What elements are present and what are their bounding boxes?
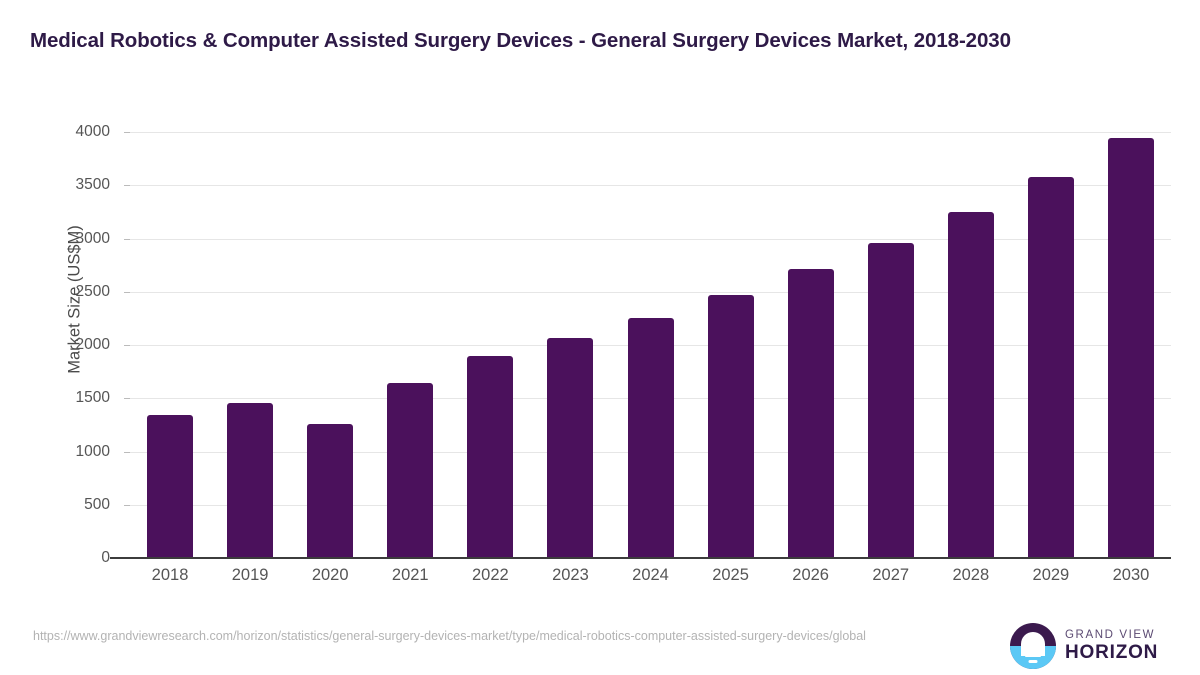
x-tick-label-2027: 2027 (851, 566, 931, 585)
x-tick-label-2019: 2019 (210, 566, 290, 585)
y-tick-label: 2000 (76, 336, 110, 354)
y-tick-label: 500 (84, 496, 110, 514)
x-tick-label-2022: 2022 (450, 566, 530, 585)
bar-2028[interactable] (948, 212, 994, 558)
x-tick-label-2025: 2025 (691, 566, 771, 585)
x-tick-label-2020: 2020 (290, 566, 370, 585)
chart-page: Medical Robotics & Computer Assisted Sur… (0, 0, 1200, 675)
x-axis-line (110, 557, 1171, 559)
x-tick-label-2030: 2030 (1091, 566, 1171, 585)
source-url[interactable]: https://www.grandviewresearch.com/horizo… (33, 628, 948, 645)
bar-2023[interactable] (547, 338, 593, 558)
bar-2027[interactable] (868, 243, 914, 558)
logo-wordmark: GRAND VIEW HORIZON (1065, 628, 1158, 664)
bar-2021[interactable] (387, 383, 433, 558)
bar-2025[interactable] (708, 295, 754, 558)
y-axis-ticks: 05001000150020002500300035004000 (0, 132, 120, 558)
horizon-sun-icon (1010, 623, 1056, 669)
logo-ray-2 (1025, 655, 1041, 658)
gridline (130, 239, 1171, 240)
y-tick-label: 0 (101, 549, 110, 567)
gridline (130, 132, 1171, 133)
x-tick-label-2021: 2021 (370, 566, 450, 585)
bar-2019[interactable] (227, 403, 273, 558)
gridline (130, 292, 1171, 293)
bar-2024[interactable] (628, 318, 674, 558)
bar-2022[interactable] (467, 356, 513, 558)
bar-2018[interactable] (147, 415, 193, 558)
logo-ray-1 (1022, 649, 1044, 652)
y-tick-label: 1000 (76, 443, 110, 461)
gridline (130, 185, 1171, 186)
x-tick-label-2026: 2026 (771, 566, 851, 585)
x-axis-ticks: 2018201920202021202220232024202520262027… (130, 566, 1171, 596)
grand-view-horizon-logo[interactable]: GRAND VIEW HORIZON (1010, 620, 1175, 672)
x-tick-label-2028: 2028 (931, 566, 1011, 585)
x-tick-label-2029: 2029 (1011, 566, 1091, 585)
bar-2020[interactable] (307, 424, 353, 558)
x-tick-label-2024: 2024 (611, 566, 691, 585)
logo-grand-view-text: GRAND VIEW (1065, 628, 1158, 642)
y-tick-label: 3000 (76, 230, 110, 248)
bar-2029[interactable] (1028, 177, 1074, 558)
x-tick-label-2023: 2023 (530, 566, 610, 585)
bar-2026[interactable] (788, 269, 834, 558)
logo-ray-3 (1029, 660, 1038, 663)
logo-sun-dome (1021, 632, 1045, 656)
plot-area (130, 132, 1171, 558)
x-tick-label-2018: 2018 (130, 566, 210, 585)
y-tick-label: 2500 (76, 283, 110, 301)
y-tick-label: 3500 (76, 176, 110, 194)
logo-horizon-text: HORIZON (1065, 642, 1158, 664)
page-title: Medical Robotics & Computer Assisted Sur… (30, 26, 1170, 55)
y-tick-label: 1500 (76, 389, 110, 407)
y-tick-label: 4000 (76, 123, 110, 141)
bar-2030[interactable] (1108, 138, 1154, 558)
